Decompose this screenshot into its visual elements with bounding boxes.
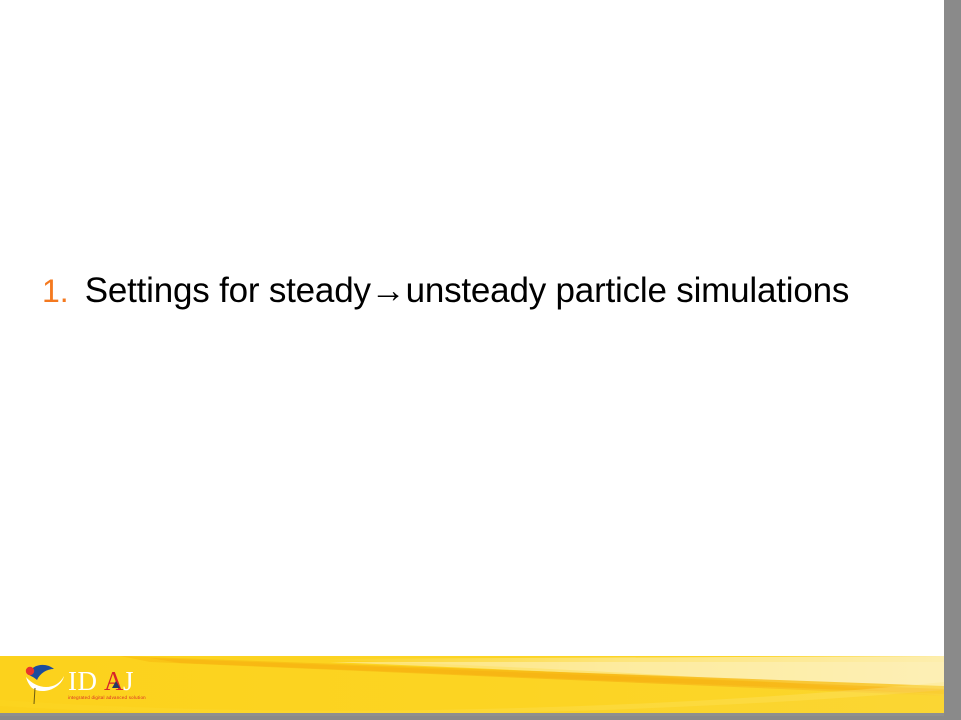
idaj-logo-graphic: ID A J integrated digital advanced solut… <box>24 660 152 708</box>
svg-text:ID: ID <box>68 666 98 696</box>
slide-title-block: 1.Settings for steady→unsteady particle … <box>42 268 902 314</box>
title-number: 1. <box>42 273 69 309</box>
svg-text:A: A <box>104 666 124 696</box>
page-title: 1.Settings for steady→unsteady particle … <box>42 268 902 314</box>
slide-viewport: 1.Settings for steady→unsteady particle … <box>0 0 961 720</box>
slide-bottom-rule <box>0 713 944 716</box>
idaj-wordmark: ID A J <box>68 666 134 696</box>
title-text: Settings for steady→unsteady particle si… <box>85 271 849 310</box>
svg-text:J: J <box>123 666 134 696</box>
slide-canvas: 1.Settings for steady→unsteady particle … <box>0 0 944 716</box>
logo-tagline: integrated digital advanced solution <box>68 695 146 700</box>
idaj-swoosh-icon <box>26 665 64 704</box>
idaj-logo: ID A J integrated digital advanced solut… <box>24 660 152 708</box>
right-gutter-band <box>944 0 961 720</box>
